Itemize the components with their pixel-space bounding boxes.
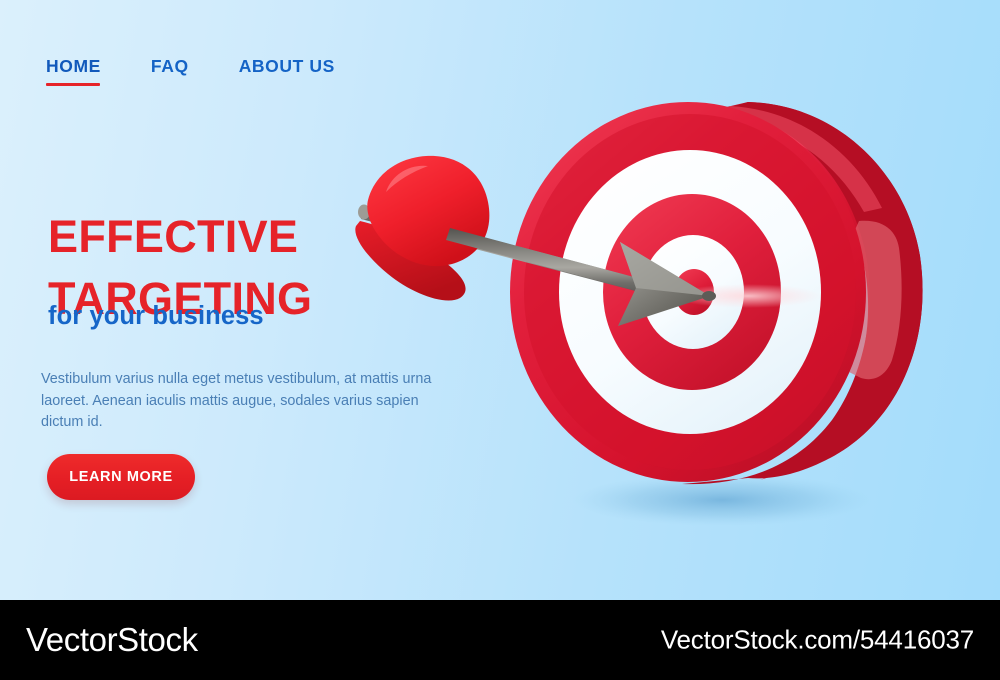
main-navigation: HOME FAQ ABOUT US [46, 56, 335, 86]
nav-active-underline [46, 83, 100, 87]
watermark-bar: VectorStock VectorStock.com/54416037 [0, 600, 1000, 680]
nav-item-home-label: HOME [46, 56, 101, 76]
nav-item-about-us[interactable]: ABOUT US [239, 56, 335, 86]
nav-item-about-us-label: ABOUT US [239, 56, 335, 76]
banner-screenshot: HOME FAQ ABOUT US EFFECTIVE TARGETING fo… [0, 0, 1000, 680]
hero-subheadline: for your business [48, 302, 264, 331]
target-illustration [330, 80, 990, 540]
hero-section: HOME FAQ ABOUT US EFFECTIVE TARGETING fo… [0, 0, 1000, 600]
watermark-brand: VectorStock [26, 621, 198, 659]
nav-item-faq-label: FAQ [151, 56, 189, 76]
arrow-tip-contact [702, 291, 716, 301]
nav-item-faq[interactable]: FAQ [151, 56, 189, 86]
watermark-url: VectorStock.com/54416037 [661, 625, 974, 656]
learn-more-button[interactable]: LEARN MORE [47, 454, 195, 500]
nav-item-home[interactable]: HOME [46, 56, 101, 86]
